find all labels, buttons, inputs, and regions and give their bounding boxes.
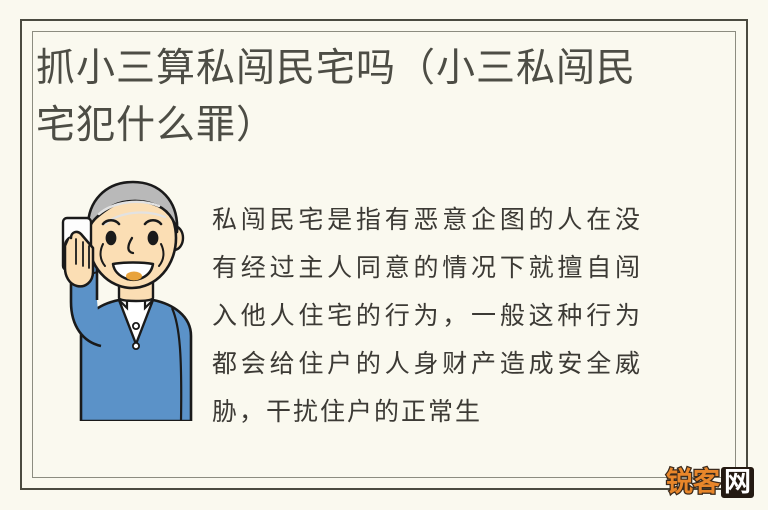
tongue (126, 272, 142, 281)
page-title: 抓小三算私闯民宅吗（小三私闯民宅犯什么罪） (36, 40, 636, 154)
illustration-elderly-man-holding-phone (41, 176, 211, 421)
elderly-man-illustration-svg (41, 176, 211, 421)
eye-right (148, 231, 159, 245)
watermark-text-secondary: 网 (721, 467, 754, 498)
watermark-text-primary: 锐客 (666, 469, 720, 496)
site-watermark: 锐客 网 (666, 467, 754, 498)
article-body-text: 私闯民宅是指有恶意企图的人在没有经过主人同意的情况下就擅自闯入他人住宅的行为，一… (212, 196, 642, 436)
eye-left (106, 231, 117, 245)
article-card-page: 抓小三算私闯民宅吗（小三私闯民宅犯什么罪） (0, 0, 768, 510)
